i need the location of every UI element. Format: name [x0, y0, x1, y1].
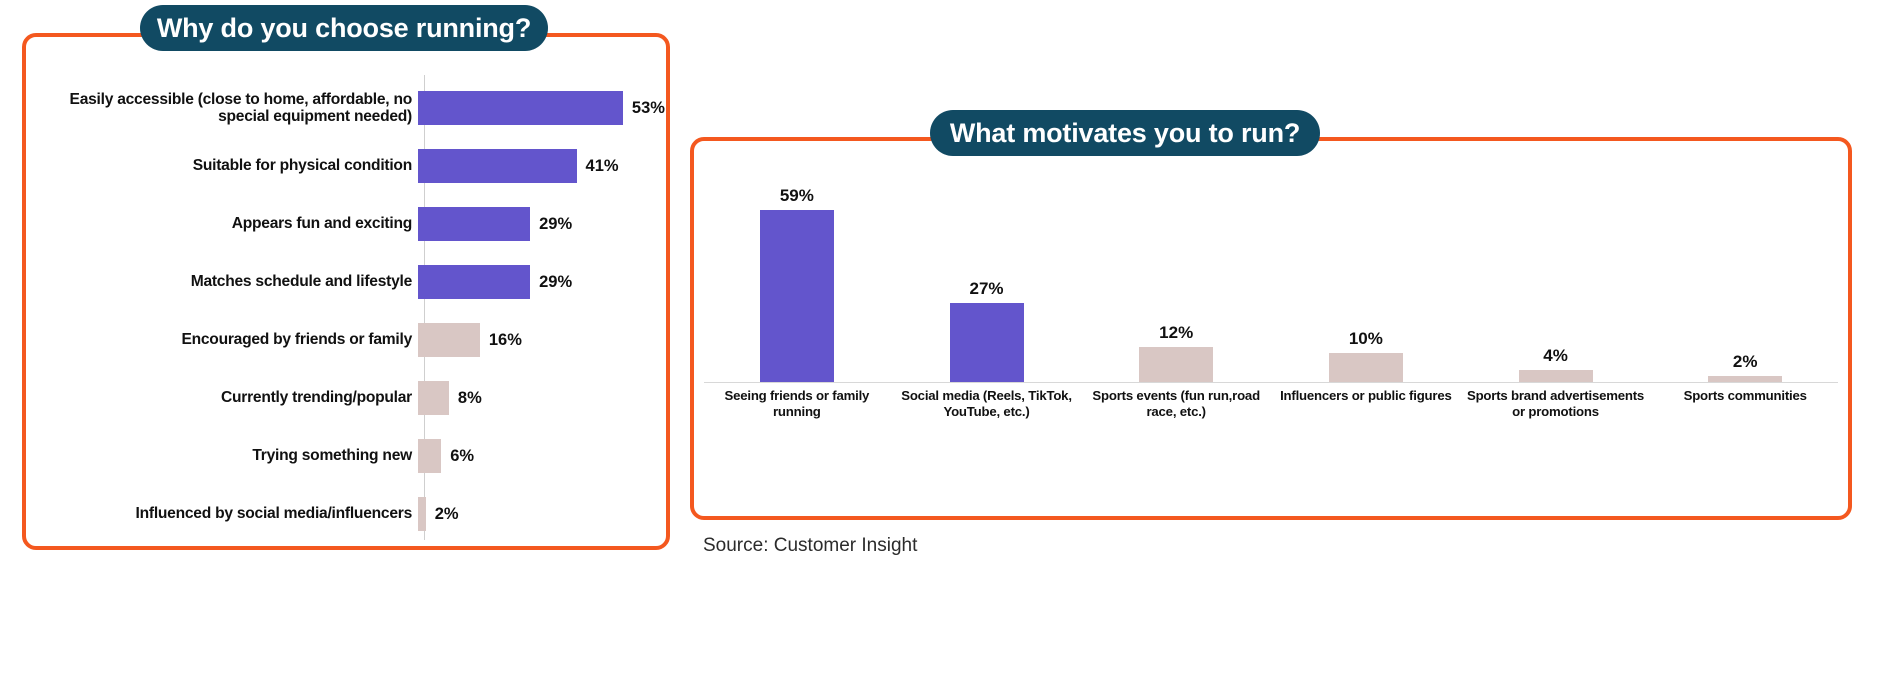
- vertical-bar-column: 59%Seeing friends or family running: [702, 155, 892, 516]
- bar-category-label: Easily accessible (close to home, afford…: [26, 91, 418, 126]
- bar-value-label: 16%: [489, 331, 522, 350]
- bar-fill: [418, 323, 480, 357]
- bar-category-label: Sports brand advertisements or promotion…: [1461, 388, 1651, 419]
- bar-category-label: Influencers or public figures: [1271, 388, 1461, 404]
- source-note: Source: Customer Insight: [703, 535, 917, 557]
- vertical-bar-column: 2%Sports communities: [1650, 155, 1840, 516]
- bar-category-label: Encouraged by friends or family: [26, 331, 418, 348]
- bar-stack: 27%: [892, 155, 1082, 382]
- bar-value-label: 10%: [1349, 329, 1383, 349]
- left-chart-title: Why do you choose running?: [140, 5, 548, 51]
- bar-value-label: 8%: [458, 389, 482, 408]
- bar-category-label: Currently trending/popular: [26, 389, 418, 406]
- horizontal-bar-row: Matches schedule and lifestyle29%: [26, 253, 666, 311]
- bar-value-label: 29%: [539, 273, 572, 292]
- bar-value-label: 4%: [1543, 346, 1568, 366]
- horizontal-bar-row: Influenced by social media/influencers2%: [26, 485, 666, 543]
- bar-stack: 2%: [1650, 155, 1840, 382]
- bar-category-label: Influenced by social media/influencers: [26, 505, 418, 522]
- why-choose-running-panel: Easily accessible (close to home, afford…: [22, 33, 670, 550]
- horizontal-bar-row: Suitable for physical condition41%: [26, 137, 666, 195]
- bar-fill: [418, 381, 449, 415]
- bar-fill: [1139, 347, 1213, 382]
- bar-fill: [760, 210, 834, 382]
- bar-category-label: Appears fun and exciting: [26, 215, 418, 232]
- bar-value-label: 12%: [1159, 323, 1193, 343]
- bar-value-label: 41%: [586, 157, 619, 176]
- horizontal-bar-row: Trying something new6%: [26, 427, 666, 485]
- vertical-bar-column: 27%Social media (Reels, TikTok, YouTube,…: [892, 155, 1082, 516]
- vertical-bar-column: 10%Influencers or public figures: [1271, 155, 1461, 516]
- bar-value-label: 27%: [969, 279, 1003, 299]
- bar-track: 41%: [418, 137, 666, 195]
- bar-stack: 4%: [1461, 155, 1651, 382]
- bar-category-label: Trying something new: [26, 447, 418, 464]
- right-chart-title: What motivates you to run?: [930, 110, 1320, 156]
- bar-track: 16%: [418, 311, 666, 369]
- bar-fill: [418, 439, 441, 473]
- bar-track: 29%: [418, 253, 666, 311]
- bar-value-label: 6%: [450, 447, 474, 466]
- bar-category-label: Sports communities: [1650, 388, 1840, 404]
- bar-value-label: 29%: [539, 215, 572, 234]
- what-motivates-you-panel: 59%Seeing friends or family running27%So…: [690, 137, 1852, 520]
- bar-track: 6%: [418, 427, 666, 485]
- bar-fill: [418, 149, 577, 183]
- bar-fill: [418, 265, 530, 299]
- bar-category-label: Matches schedule and lifestyle: [26, 273, 418, 290]
- bar-fill: [418, 207, 530, 241]
- bar-fill: [950, 303, 1024, 382]
- horizontal-bar-row: Appears fun and exciting29%: [26, 195, 666, 253]
- bar-track: 8%: [418, 369, 666, 427]
- bar-track: 2%: [418, 485, 666, 543]
- bar-value-label: 59%: [780, 186, 814, 206]
- bar-fill: [418, 497, 426, 531]
- bar-stack: 10%: [1271, 155, 1461, 382]
- bar-category-label: Seeing friends or family running: [702, 388, 892, 419]
- horizontal-bar-chart: Easily accessible (close to home, afford…: [26, 37, 666, 546]
- bar-category-label: Suitable for physical condition: [26, 157, 418, 174]
- bar-track: 29%: [418, 195, 666, 253]
- bar-value-label: 53%: [632, 99, 665, 118]
- bar-fill: [1329, 353, 1403, 382]
- vertical-bar-column: 12%Sports events (fun run,road race, etc…: [1081, 155, 1271, 516]
- bar-value-label: 2%: [435, 505, 459, 524]
- vertical-bar-column: 4%Sports brand advertisements or promoti…: [1461, 155, 1651, 516]
- bar-fill: [1708, 376, 1782, 382]
- bar-fill: [1519, 370, 1593, 382]
- bar-category-label: Sports events (fun run,road race, etc.): [1081, 388, 1271, 419]
- bar-value-label: 2%: [1733, 352, 1758, 372]
- bar-fill: [418, 91, 623, 125]
- bar-stack: 59%: [702, 155, 892, 382]
- vertical-bar-columns: 59%Seeing friends or family running27%So…: [702, 155, 1840, 516]
- bar-track: 53%: [418, 79, 666, 137]
- horizontal-bar-row: Currently trending/popular8%: [26, 369, 666, 427]
- horizontal-bar-row: Encouraged by friends or family16%: [26, 311, 666, 369]
- horizontal-bar-row: Easily accessible (close to home, afford…: [26, 79, 666, 137]
- vertical-bar-chart: 59%Seeing friends or family running27%So…: [702, 155, 1840, 516]
- bar-stack: 12%: [1081, 155, 1271, 382]
- bar-category-label: Social media (Reels, TikTok, YouTube, et…: [892, 388, 1082, 419]
